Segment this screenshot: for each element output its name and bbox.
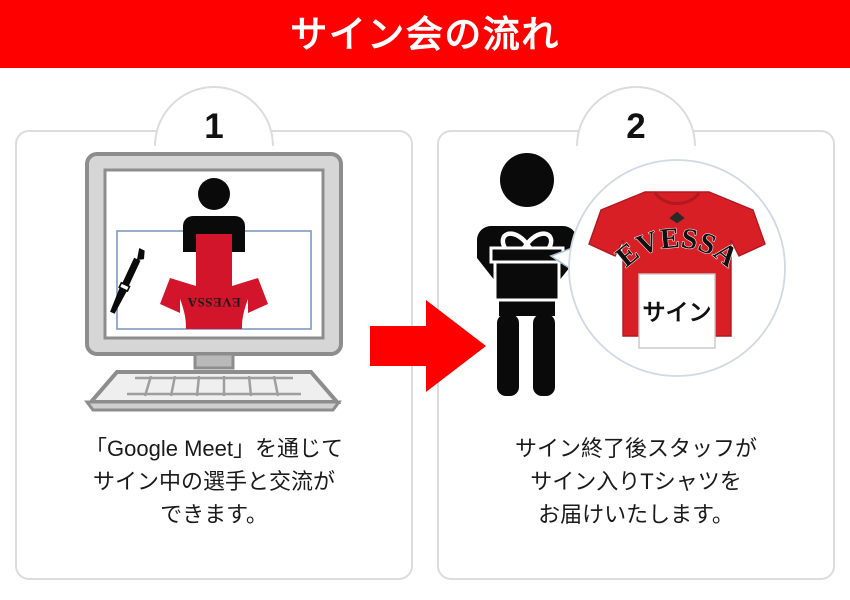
caption-line: サイン終了後スタッフが xyxy=(439,432,833,465)
right-arrow-icon xyxy=(368,296,488,396)
svg-text:EVESSA: EVESSA xyxy=(187,295,241,310)
speech-bubble-icon: EVESSA サイン xyxy=(547,156,797,406)
step-number-1: 1 xyxy=(156,109,272,144)
laptop-video-call-icon: EVESSA xyxy=(69,146,359,416)
step-number-2: 2 xyxy=(578,109,694,144)
caption-line: お届けいたします。 xyxy=(439,498,833,531)
step-card-1: 1 EVESSA xyxy=(15,130,413,580)
step-number-tab-1: 1 xyxy=(154,86,274,146)
caption-line: できます。 xyxy=(17,498,411,531)
flow-board: 1 EVESSA xyxy=(0,68,850,600)
step-card-2: 2 xyxy=(437,130,835,580)
tshirt-panel-text: サイン xyxy=(643,299,712,325)
step-1-caption: 「Google Meet」を通じて サイン中の選手と交流が できます。 xyxy=(17,432,411,531)
page-title: サイン会の流れ xyxy=(290,16,560,53)
step-number-tab-2: 2 xyxy=(576,86,696,146)
page-header: サイン会の流れ xyxy=(0,0,850,68)
step-1-illustration: EVESSA xyxy=(17,146,411,428)
caption-line: サイン入りTシャツを xyxy=(439,465,833,498)
step-2-illustration: EVESSA サイン xyxy=(439,146,833,428)
caption-line: サイン中の選手と交流が xyxy=(17,465,411,498)
step-2-caption: サイン終了後スタッフが サイン入りTシャツを お届けいたします。 xyxy=(439,432,833,531)
caption-line: 「Google Meet」を通じて xyxy=(17,432,411,465)
